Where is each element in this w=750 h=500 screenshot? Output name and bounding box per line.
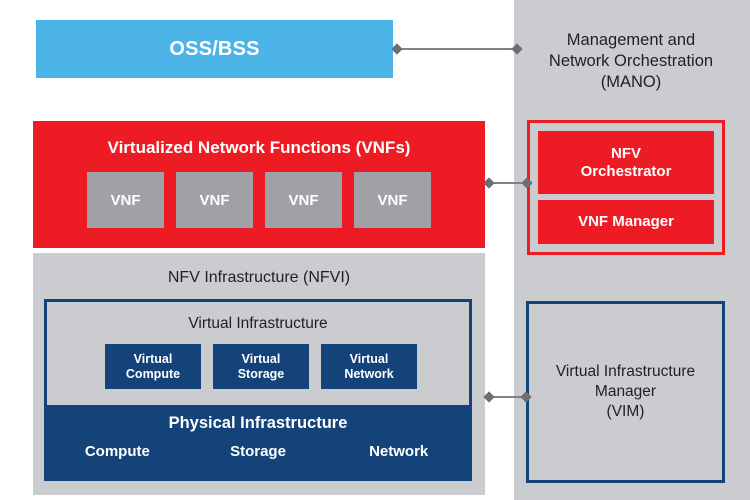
mano-group-inner: NFV Orchestrator VNF Manager [538,131,714,244]
vnf-box[interactable]: VNF [176,172,253,228]
vnf-manager-label: VNF Manager [578,213,674,231]
connector-diamond-start-icon [483,391,494,402]
mano-title-line-3: (MANO) [520,72,742,93]
nfv-orchestrator-box[interactable]: NFV Orchestrator [538,131,714,194]
connector-nfvi-to-vim [485,391,530,402]
vnf-box-row: VNF VNF VNF VNF [87,172,431,228]
vnf-box[interactable]: VNF [265,172,342,228]
connector-diamond-end-icon [521,177,532,188]
nfv-orchestrator-line-1: NFV [611,145,641,163]
nfv-orchestrator-line-2: Orchestrator [581,163,672,181]
nfvi-block-title: NFV Infrastructure (NFVI) [33,269,485,287]
mano-group-box[interactable]: NFV Orchestrator VNF Manager [527,120,725,255]
physical-infrastructure-box[interactable]: Physical Infrastructure Compute Storage … [47,405,469,478]
ossbss-label: OSS/BSS [169,38,259,61]
virtual-compute-box[interactable]: Virtual Compute [105,344,201,389]
physical-infrastructure-title: Physical Infrastructure [47,414,469,433]
vnf-box-label: VNF [111,192,141,209]
physical-compute-label: Compute [47,443,188,467]
ossbss-block[interactable]: OSS/BSS [36,20,393,78]
virtual-storage-line-2: Storage [238,367,285,382]
virtual-compute-line-1: Virtual [134,352,173,367]
virtual-network-line-2: Network [344,367,393,382]
virtual-infrastructure-box[interactable]: Virtual Infrastructure Virtual Compute V… [44,299,472,481]
nfv-architecture-diagram: Management and Network Orchestration (MA… [0,0,750,500]
physical-network-label: Network [328,443,469,467]
vnf-box[interactable]: VNF [87,172,164,228]
physical-resource-row: Compute Storage Network [47,443,469,467]
connector-diamond-end-icon [511,43,522,54]
vnf-manager-box[interactable]: VNF Manager [538,200,714,244]
connector-diamond-start-icon [391,43,402,54]
connector-vnf-to-mano [485,177,531,188]
vnf-block-title: Virtualized Network Functions (VNFs) [33,138,485,158]
vnf-box-label: VNF [289,192,319,209]
connector-line [397,48,517,50]
physical-storage-label: Storage [188,443,329,467]
virtual-compute-line-2: Compute [126,367,180,382]
virtual-infrastructure-title: Virtual Infrastructure [47,315,469,333]
nfvi-block[interactable]: NFV Infrastructure (NFVI) Virtual Infras… [33,253,485,495]
mano-panel-title: Management and Network Orchestration (MA… [520,30,742,93]
virtual-network-box[interactable]: Virtual Network [321,344,417,389]
virtual-network-line-1: Virtual [350,352,389,367]
vim-line-2: Manager [556,382,695,402]
mano-title-line-2: Network Orchestration [520,51,742,72]
virtual-storage-box[interactable]: Virtual Storage [213,344,309,389]
vnf-box-label: VNF [378,192,408,209]
mano-title-line-1: Management and [520,30,742,51]
connector-diamond-end-icon [520,391,531,402]
vnf-box-label: VNF [200,192,230,209]
vnf-block[interactable]: Virtualized Network Functions (VNFs) VNF… [33,121,485,248]
virtual-storage-line-1: Virtual [242,352,281,367]
vnf-box[interactable]: VNF [354,172,431,228]
connector-ossbss-to-mano [393,43,521,54]
vim-line-3: (VIM) [556,402,695,422]
vim-label: Virtual Infrastructure Manager (VIM) [556,362,695,422]
vim-line-1: Virtual Infrastructure [556,362,695,382]
connector-diamond-start-icon [483,177,494,188]
virtual-resource-row: Virtual Compute Virtual Storage Virtual … [105,344,417,389]
vim-box[interactable]: Virtual Infrastructure Manager (VIM) [526,301,725,483]
